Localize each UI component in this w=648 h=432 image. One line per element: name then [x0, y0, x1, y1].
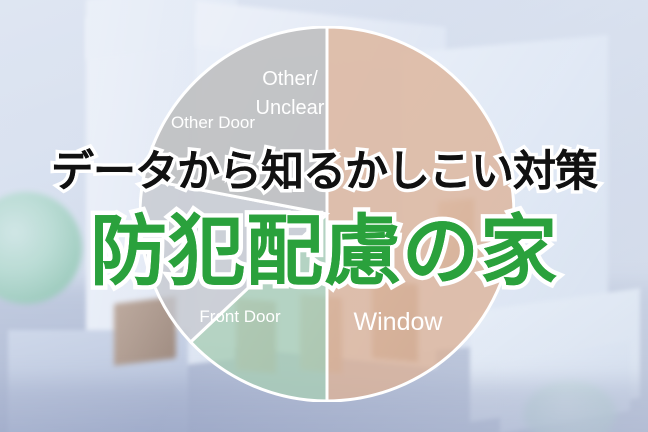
pie-slice-label: Window	[354, 308, 444, 336]
pie-slice-label: Front Door	[199, 307, 281, 326]
pie-slice-label: Unclear	[256, 97, 325, 119]
banner-stage: WindowFront DoorOther DoorOther/Unclear …	[0, 0, 648, 432]
pie-slice-label: Other Door	[171, 113, 255, 132]
pie-slice-label: Other/	[262, 68, 318, 90]
banner-headline: 防犯配慮の家	[0, 190, 648, 301]
